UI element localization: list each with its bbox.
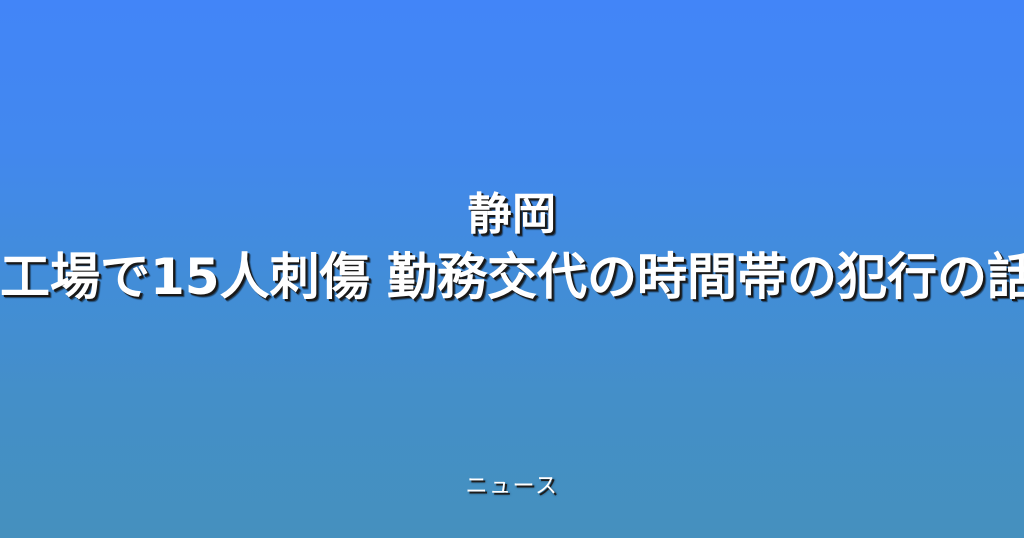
news-card: 静岡 工場で15人刺傷 勤務交代の時間帯の犯行の話題 ニュース [0,0,1024,538]
category-label: ニュース [0,472,1024,502]
headline-line-primary: 静岡 [0,186,1024,244]
headline-line-secondary: 工場で15人刺傷 勤務交代の時間帯の犯行の話題 [0,244,1024,310]
headline-block: 静岡 工場で15人刺傷 勤務交代の時間帯の犯行の話題 [0,186,1024,310]
